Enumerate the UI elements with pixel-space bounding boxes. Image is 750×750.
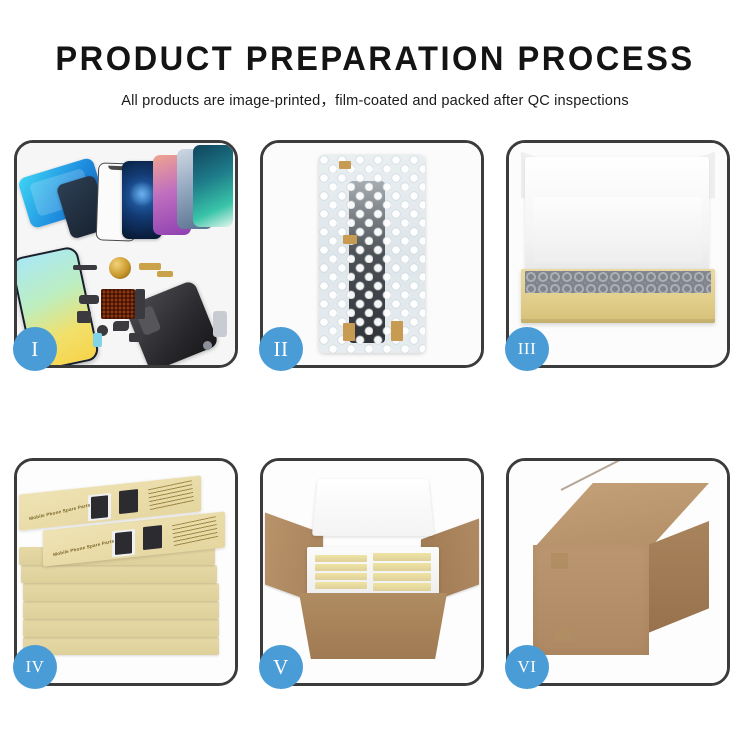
- box-label-text: Mobile Phone Spare Parts: [29, 502, 91, 521]
- tape-piece-bottom-right-icon: [391, 321, 403, 341]
- step-badge-5: V: [259, 645, 303, 689]
- inner-yellow-box: [373, 573, 431, 581]
- stacked-box-layer: [23, 583, 219, 601]
- inner-yellow-box: [315, 564, 367, 571]
- step-numeral-3: III: [518, 339, 536, 359]
- carton-tape-square-lower: [555, 627, 571, 642]
- process-step-panel-6: VI: [506, 458, 730, 686]
- step-badge-1: I: [13, 327, 57, 371]
- step-numeral-5: V: [273, 655, 289, 680]
- box-art-screen-right: [119, 489, 138, 514]
- part-connector-icon: [93, 333, 102, 347]
- box-art-screen-left: [91, 495, 108, 519]
- header: PRODUCT PREPARATION PROCESS All products…: [0, 0, 750, 110]
- bubble-wrap-bag-icon: [319, 155, 425, 353]
- inner-yellow-box: [315, 573, 367, 580]
- teal-phone-icon: [193, 145, 233, 227]
- stacked-box-layer: [21, 565, 217, 583]
- process-steps-grid: I II: [14, 140, 736, 686]
- page-subtitle: All products are image-printed，film-coat…: [0, 89, 750, 110]
- step-badge-3: III: [505, 327, 549, 371]
- flex-cable-long-icon: [135, 289, 145, 319]
- part-small-icon: [77, 311, 91, 323]
- process-step-panel-4: Mobile Phone Spare Parts Mobile Phone Sp…: [14, 458, 238, 686]
- gold-contact-icon: [157, 271, 173, 277]
- speaker-coil-icon: [109, 257, 131, 279]
- process-step-panel-2: II: [260, 140, 484, 368]
- part-block-icon: [79, 295, 99, 304]
- stacked-box-layer: [23, 601, 219, 619]
- inner-yellow-box: [373, 553, 431, 561]
- bubble-texture: [319, 155, 425, 353]
- stacked-box-layer: [23, 619, 219, 637]
- step-badge-4: IV: [13, 645, 57, 689]
- product-preparation-infographic: PRODUCT PREPARATION PROCESS All products…: [0, 0, 750, 750]
- foam-lid-icon: [312, 479, 434, 536]
- inner-yellow-box: [315, 582, 367, 589]
- process-step-panel-5: V: [260, 458, 484, 686]
- tweezers-icon: [213, 311, 227, 337]
- foam-insert-icon: [307, 547, 439, 599]
- tape-piece-mid-icon: [343, 235, 357, 244]
- step-badge-2: II: [259, 327, 303, 371]
- box-spec-text-lines: [148, 480, 194, 511]
- process-step-panel-1: I: [14, 140, 238, 368]
- step-numeral-4: IV: [26, 657, 45, 677]
- step-badge-6: VI: [505, 645, 549, 689]
- step-numeral-2: II: [274, 337, 289, 362]
- inner-yellow-box: [373, 583, 431, 591]
- part-strip-icon: [73, 265, 97, 270]
- box-spec-text-lines: [172, 516, 218, 547]
- tape-piece-top-icon: [339, 161, 351, 169]
- foam-sheet-icon: [525, 157, 709, 275]
- box-label-text: Mobile Phone Spare Parts: [53, 538, 115, 557]
- process-step-panel-3: III: [506, 140, 730, 368]
- part-tiny-icon: [129, 333, 142, 342]
- carton-body-icon: [299, 593, 447, 659]
- carton-tape-square-upper: [551, 553, 568, 569]
- inner-yellow-box: [373, 563, 431, 571]
- step-numeral-6: VI: [518, 657, 537, 677]
- box-art-screen-left: [115, 531, 132, 555]
- box-art-screen-right: [143, 525, 162, 550]
- part-camera-icon: [113, 321, 129, 331]
- tape-piece-bottom-left-icon: [343, 323, 355, 341]
- stacked-box-layer: [23, 637, 219, 655]
- flex-cable-icon: [139, 263, 161, 270]
- page-title: PRODUCT PREPARATION PROCESS: [15, 42, 735, 76]
- circuit-chip-icon: [101, 289, 135, 319]
- kraft-box-tray-icon: [521, 269, 715, 323]
- screw-icon: [203, 341, 212, 350]
- inner-yellow-box: [315, 555, 367, 562]
- step-numeral-1: I: [31, 337, 39, 362]
